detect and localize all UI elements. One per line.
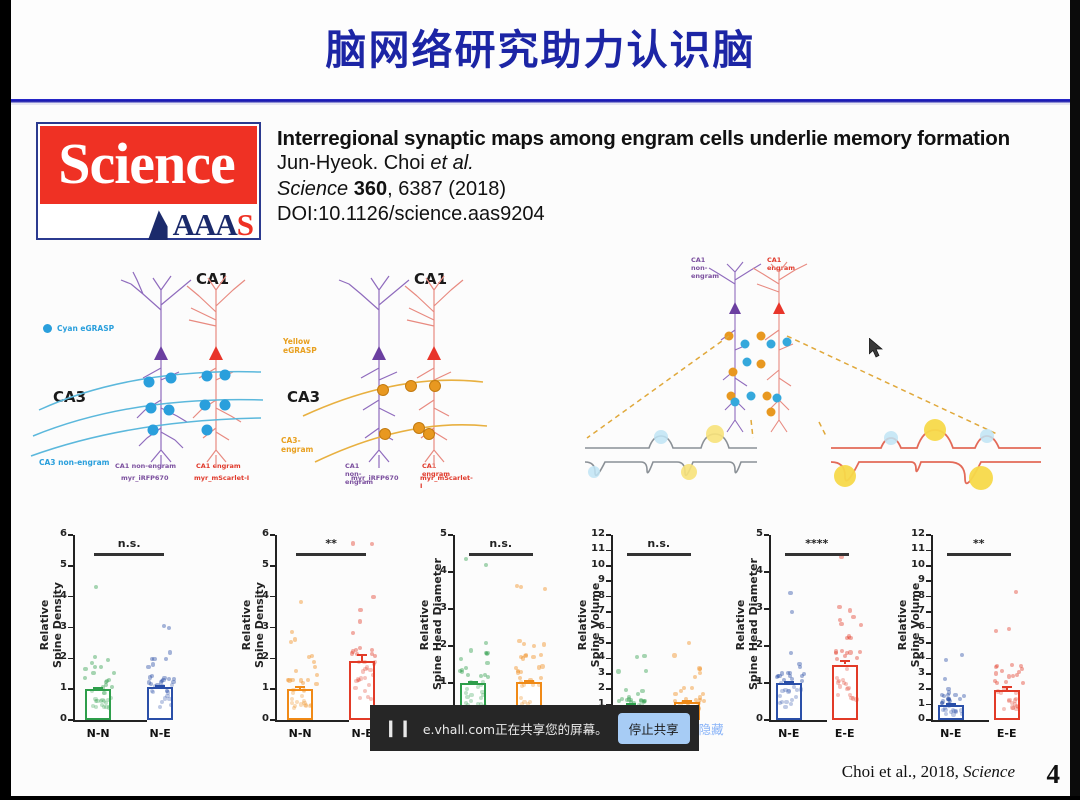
y-axis-label-line2: Spine Density — [254, 560, 267, 690]
panel-cyan-neuron-drawing — [11, 250, 311, 490]
data-point — [539, 676, 543, 680]
data-point — [290, 701, 294, 705]
data-point — [635, 655, 639, 659]
data-point — [358, 608, 362, 612]
significance-line — [627, 553, 691, 556]
y-axis-label: RelativeSpine Volume — [577, 560, 602, 690]
y-tick — [926, 534, 931, 536]
data-point — [845, 687, 849, 691]
data-point — [485, 652, 489, 656]
y-tick — [68, 534, 73, 536]
data-point — [687, 641, 691, 645]
data-point — [291, 691, 295, 695]
data-point — [469, 693, 473, 697]
y-tick — [270, 627, 275, 629]
chart-spine-volume-2: 0123456789101112RelativeSpine VolumeN-EE… — [889, 535, 993, 760]
data-point — [790, 698, 794, 702]
data-point — [106, 658, 110, 662]
data-point — [521, 656, 525, 660]
y-axis-label-line2: Spine Head Diameter — [432, 560, 445, 690]
data-point — [464, 557, 468, 561]
data-point — [464, 666, 468, 670]
data-point — [999, 690, 1003, 694]
data-point — [836, 693, 840, 697]
data-point — [994, 629, 998, 633]
data-point — [167, 626, 171, 630]
pause-icon[interactable]: ❙❙ — [384, 718, 413, 738]
y-tick — [68, 658, 73, 660]
x-tick-label-N-N: N-N — [76, 727, 120, 740]
data-point — [1010, 663, 1014, 667]
data-point — [542, 642, 546, 646]
data-point — [312, 660, 316, 664]
data-point — [517, 639, 521, 643]
page-number: 4 — [1047, 759, 1061, 790]
y-tick-label: 12 — [579, 528, 605, 539]
y-tick — [926, 642, 931, 644]
data-point — [790, 610, 794, 614]
y-tick — [448, 571, 453, 573]
significance-line — [469, 553, 533, 556]
data-point — [484, 563, 488, 567]
data-point — [642, 654, 646, 658]
y-tick — [606, 534, 611, 536]
paper-doi: DOI:10.1126/science.aas9204 — [277, 202, 1047, 228]
data-point — [690, 686, 694, 690]
y-tick — [68, 627, 73, 629]
journal-volume: 360 — [354, 178, 387, 200]
data-point — [1014, 691, 1018, 695]
data-point — [797, 662, 801, 666]
data-point — [799, 687, 803, 691]
data-point — [148, 675, 152, 679]
y-axis-label: RelativeSpine Density — [39, 560, 64, 690]
data-point — [485, 661, 489, 665]
data-point — [1014, 707, 1018, 711]
data-point — [301, 681, 305, 685]
x-tick-label-N-E: N-E — [138, 727, 182, 740]
data-point — [944, 658, 948, 662]
data-point — [358, 646, 362, 650]
author-names: Jun-Hyeok. Choi — [277, 152, 430, 174]
data-point — [794, 695, 798, 699]
data-point — [839, 622, 843, 626]
data-point — [361, 669, 365, 673]
science-wordmark: Science — [38, 126, 255, 202]
data-point — [294, 669, 298, 673]
data-point — [167, 697, 171, 701]
y-axis — [73, 535, 75, 720]
data-point — [293, 637, 297, 641]
data-point — [960, 712, 964, 716]
y-tick-label: 11 — [579, 543, 605, 554]
presentation-slide: 脑网络研究助力认识脑 Science AAAS Interregional sy… — [0, 0, 1080, 800]
data-point — [93, 665, 97, 669]
y-tick — [606, 627, 611, 629]
data-point — [643, 699, 647, 703]
y-tick — [270, 688, 275, 690]
significance-label: n.s. — [453, 537, 549, 550]
panel-merge-drawing — [581, 250, 1061, 500]
data-point — [83, 667, 87, 671]
data-point — [848, 650, 852, 654]
data-point — [840, 649, 844, 653]
y-tick — [448, 534, 453, 536]
data-point — [104, 705, 108, 709]
title-divider-shadow — [11, 103, 1070, 105]
data-point — [112, 671, 116, 675]
x-tick-label-N-E: N-E — [929, 727, 973, 740]
data-point — [784, 700, 788, 704]
data-point — [693, 675, 697, 679]
significance-label: ** — [280, 537, 382, 550]
data-point — [616, 669, 620, 673]
data-point — [1015, 673, 1019, 677]
y-tick — [606, 688, 611, 690]
y-tick — [926, 580, 931, 582]
data-point — [307, 655, 311, 659]
significance-line — [296, 553, 366, 556]
et-al: et al. — [430, 152, 473, 174]
y-tick — [926, 596, 931, 598]
y-tick-label: 6 — [41, 528, 67, 539]
data-point — [306, 678, 310, 682]
data-point — [102, 691, 106, 695]
y-tick — [764, 534, 769, 536]
error-bar-cap — [946, 703, 956, 705]
data-point — [776, 674, 780, 678]
chart-spine-density-yellow: 0123456RelativeSpine DensityN-NN-E** — [233, 535, 353, 760]
y-axis-label-line1: Relative — [577, 560, 590, 690]
data-point — [1004, 680, 1008, 684]
y-axis — [931, 535, 933, 720]
citation-block: Interregional synaptic maps among engram… — [277, 126, 1047, 228]
paper-authors: Jun-Hyeok. Choi et al. — [277, 151, 1047, 177]
data-point — [363, 676, 367, 680]
y-axis-label-line1: Relative — [735, 560, 748, 690]
x-tick-label-E-E: E-E — [985, 727, 1029, 740]
data-point — [373, 660, 377, 664]
data-point — [160, 700, 164, 704]
data-point — [290, 630, 294, 634]
journal-issue: , 6387 (2018) — [387, 178, 506, 200]
chart-head-diameter-2: 012345RelativeSpine Head DiameterN-EE-E*… — [727, 535, 831, 760]
data-point — [522, 642, 526, 646]
data-point — [1000, 669, 1004, 673]
error-bar-cap — [682, 700, 692, 702]
error-bar-cap — [295, 686, 305, 688]
x-axis — [73, 720, 147, 722]
title-band: 脑网络研究助力认识脑 — [11, 0, 1070, 97]
y-tick — [68, 688, 73, 690]
data-point — [800, 674, 804, 678]
data-point — [368, 668, 372, 672]
y-tick — [448, 682, 453, 684]
y-tick — [926, 688, 931, 690]
data-point — [373, 654, 377, 658]
hide-bar-button[interactable]: 隐藏 — [699, 719, 724, 738]
data-point — [466, 673, 470, 677]
data-point — [834, 649, 838, 653]
data-point — [537, 683, 541, 687]
error-bar-cap — [468, 681, 478, 683]
data-point — [851, 615, 855, 619]
x-axis — [931, 720, 989, 722]
data-point — [531, 655, 535, 659]
data-point — [371, 595, 375, 599]
data-point — [94, 585, 98, 589]
significance-line — [947, 553, 1011, 556]
paper-source: Science 360, 6387 (2018) — [277, 177, 1047, 203]
data-point — [168, 650, 172, 654]
data-point — [164, 657, 168, 661]
y-tick — [926, 627, 931, 629]
y-tick — [764, 571, 769, 573]
data-point — [351, 649, 355, 653]
y-tick — [764, 719, 769, 721]
aaas-mark-icon — [146, 210, 172, 240]
y-tick — [764, 645, 769, 647]
panel-yellow-neuron-drawing — [279, 250, 559, 490]
footer-citation: Choi et al., 2018, Science — [842, 762, 1015, 782]
aaas-logo: AAAS — [146, 206, 253, 240]
y-tick — [606, 565, 611, 567]
y-axis — [769, 535, 771, 720]
data-point — [644, 669, 648, 673]
data-point — [290, 678, 294, 682]
data-point — [522, 700, 526, 704]
data-point — [624, 688, 628, 692]
data-point — [679, 689, 683, 693]
y-tick-label: 0 — [737, 713, 763, 724]
data-point — [106, 698, 110, 702]
y-tick-label: 0 — [243, 713, 269, 724]
data-point — [639, 698, 643, 702]
y-axis-label-line1: Relative — [39, 560, 52, 690]
y-tick-label: 0 — [899, 713, 925, 724]
y-tick-label: 11 — [899, 543, 925, 554]
error-bar-cap — [93, 687, 103, 689]
data-point — [315, 673, 319, 677]
significance-line — [94, 553, 164, 556]
y-tick — [926, 658, 931, 660]
data-point — [672, 653, 676, 657]
data-point — [1007, 627, 1011, 631]
data-point — [300, 694, 304, 698]
journal-name: Science — [277, 178, 354, 200]
bar-E-E — [832, 665, 858, 721]
footer-citation-text: Choi et al., 2018, — [842, 762, 963, 781]
data-point — [93, 655, 97, 659]
data-point — [313, 665, 317, 669]
significance-label: **** — [769, 537, 865, 550]
data-point — [95, 699, 99, 703]
footer-citation-journal: Science — [963, 762, 1015, 781]
y-tick — [764, 682, 769, 684]
data-point — [519, 585, 523, 589]
data-point — [537, 665, 541, 669]
y-tick-label: 0 — [41, 713, 67, 724]
share-status-text: e.vhall.com正在共享您的屏幕。 — [423, 719, 608, 738]
y-tick-label: 6 — [243, 528, 269, 539]
data-point — [800, 679, 804, 683]
data-point — [516, 670, 520, 674]
y-tick — [926, 565, 931, 567]
x-tick-label-N-N: N-N — [278, 727, 322, 740]
data-point — [1002, 707, 1006, 711]
data-point — [353, 686, 357, 690]
error-bar-cap — [1002, 686, 1012, 688]
significance-label: n.s. — [611, 537, 707, 550]
y-tick — [606, 611, 611, 613]
data-point — [484, 641, 488, 645]
data-point — [835, 657, 839, 661]
data-point — [90, 661, 94, 665]
y-tick — [926, 719, 931, 721]
data-point — [169, 703, 173, 707]
data-point — [146, 665, 150, 669]
data-point — [479, 674, 483, 678]
data-point — [90, 689, 94, 693]
stop-sharing-button[interactable]: 停止共享 — [618, 713, 690, 744]
data-point — [640, 689, 644, 693]
right-border — [1070, 0, 1080, 800]
data-point — [958, 697, 962, 701]
data-point — [469, 648, 473, 652]
y-axis-label-line2: Spine Head Diameter — [748, 560, 761, 690]
y-tick — [606, 580, 611, 582]
data-point — [151, 662, 155, 666]
y-tick — [764, 608, 769, 610]
figure-panels: CA1 CA3 Cyan eGRASP CA3 non-engram CA1 n… — [11, 250, 1070, 510]
data-point — [848, 608, 852, 612]
data-point — [698, 671, 702, 675]
data-point — [858, 650, 862, 654]
data-point — [170, 683, 174, 687]
data-point — [995, 664, 999, 668]
data-point — [286, 678, 290, 682]
y-tick — [926, 673, 931, 675]
y-axis-label-line1: Relative — [241, 560, 254, 690]
data-point — [162, 624, 166, 628]
x-axis — [275, 720, 349, 722]
y-tick — [68, 565, 73, 567]
data-point — [859, 623, 863, 627]
data-point — [789, 651, 793, 655]
data-point — [617, 699, 621, 703]
y-axis-label-line1: Relative — [897, 560, 910, 690]
data-point — [524, 653, 528, 657]
y-tick — [448, 645, 453, 647]
data-point — [299, 600, 303, 604]
chart-spine-density-cyan: 0123456RelativeSpine DensityN-NN-En.s. — [31, 535, 151, 760]
data-point — [91, 671, 95, 675]
y-axis-label: RelativeSpine Density — [241, 560, 266, 690]
data-point — [962, 694, 966, 698]
y-tick — [270, 565, 275, 567]
data-point — [366, 695, 370, 699]
aaas-text-s: S — [237, 207, 253, 242]
data-point — [99, 665, 103, 669]
data-point — [837, 605, 841, 609]
y-tick — [448, 608, 453, 610]
y-tick — [68, 719, 73, 721]
data-point — [167, 677, 171, 681]
error-bar-cap — [357, 654, 367, 656]
data-point — [160, 679, 164, 683]
y-tick-label: 1 — [899, 698, 925, 709]
significance-line — [785, 553, 849, 556]
aaas-text: AAAS — [173, 210, 253, 240]
science-logo: Science AAAS — [36, 122, 261, 240]
y-axis — [611, 535, 613, 720]
y-tick — [606, 673, 611, 675]
data-point — [172, 677, 176, 681]
data-point — [543, 587, 547, 591]
y-axis — [275, 535, 277, 720]
x-tick-label-E-E: E-E — [823, 727, 867, 740]
data-point — [539, 653, 543, 657]
y-tick — [606, 658, 611, 660]
x-tick-label-N-E: N-E — [767, 727, 811, 740]
significance-label: n.s. — [78, 537, 180, 550]
left-border — [0, 0, 11, 800]
data-point — [1021, 681, 1025, 685]
y-tick-label: 5 — [421, 528, 447, 539]
mouse-cursor-icon — [869, 338, 885, 360]
y-tick — [270, 719, 275, 721]
y-axis-label-line2: Spine Volume — [590, 560, 603, 690]
y-axis — [453, 535, 455, 720]
y-axis-label-line2: Spine Density — [52, 560, 65, 690]
data-point — [994, 671, 998, 675]
data-point — [486, 675, 490, 679]
data-point — [532, 644, 536, 648]
y-tick — [926, 704, 931, 706]
y-tick-label: 5 — [737, 528, 763, 539]
y-axis-label: RelativeSpine Head Diameter — [735, 560, 760, 690]
y-tick — [606, 642, 611, 644]
screen-share-bar: ❙❙ e.vhall.com正在共享您的屏幕。 停止共享 隐藏 — [370, 705, 699, 751]
error-bar-cap — [784, 681, 794, 683]
data-point — [314, 682, 318, 686]
data-point — [1010, 705, 1014, 709]
data-point — [351, 631, 355, 635]
data-point — [299, 702, 303, 706]
y-axis-label: RelativeSpine Volume — [897, 560, 922, 690]
data-point — [459, 657, 463, 661]
significance-label: ** — [931, 537, 1027, 550]
data-point — [150, 657, 154, 661]
data-point — [673, 692, 677, 696]
y-tick — [270, 658, 275, 660]
data-point — [854, 697, 858, 701]
data-point — [960, 653, 964, 657]
data-point — [697, 666, 701, 670]
page-title: 脑网络研究助力认识脑 — [11, 16, 1070, 76]
y-tick — [68, 596, 73, 598]
data-point — [953, 693, 957, 697]
data-point — [1010, 701, 1014, 705]
data-point — [358, 619, 362, 623]
data-point — [783, 705, 787, 709]
x-axis — [769, 720, 827, 722]
paper-title: Interregional synaptic maps among engram… — [277, 126, 1047, 151]
error-bar-cap — [840, 660, 850, 662]
y-tick — [270, 596, 275, 598]
data-point — [702, 699, 706, 703]
y-tick — [606, 596, 611, 598]
